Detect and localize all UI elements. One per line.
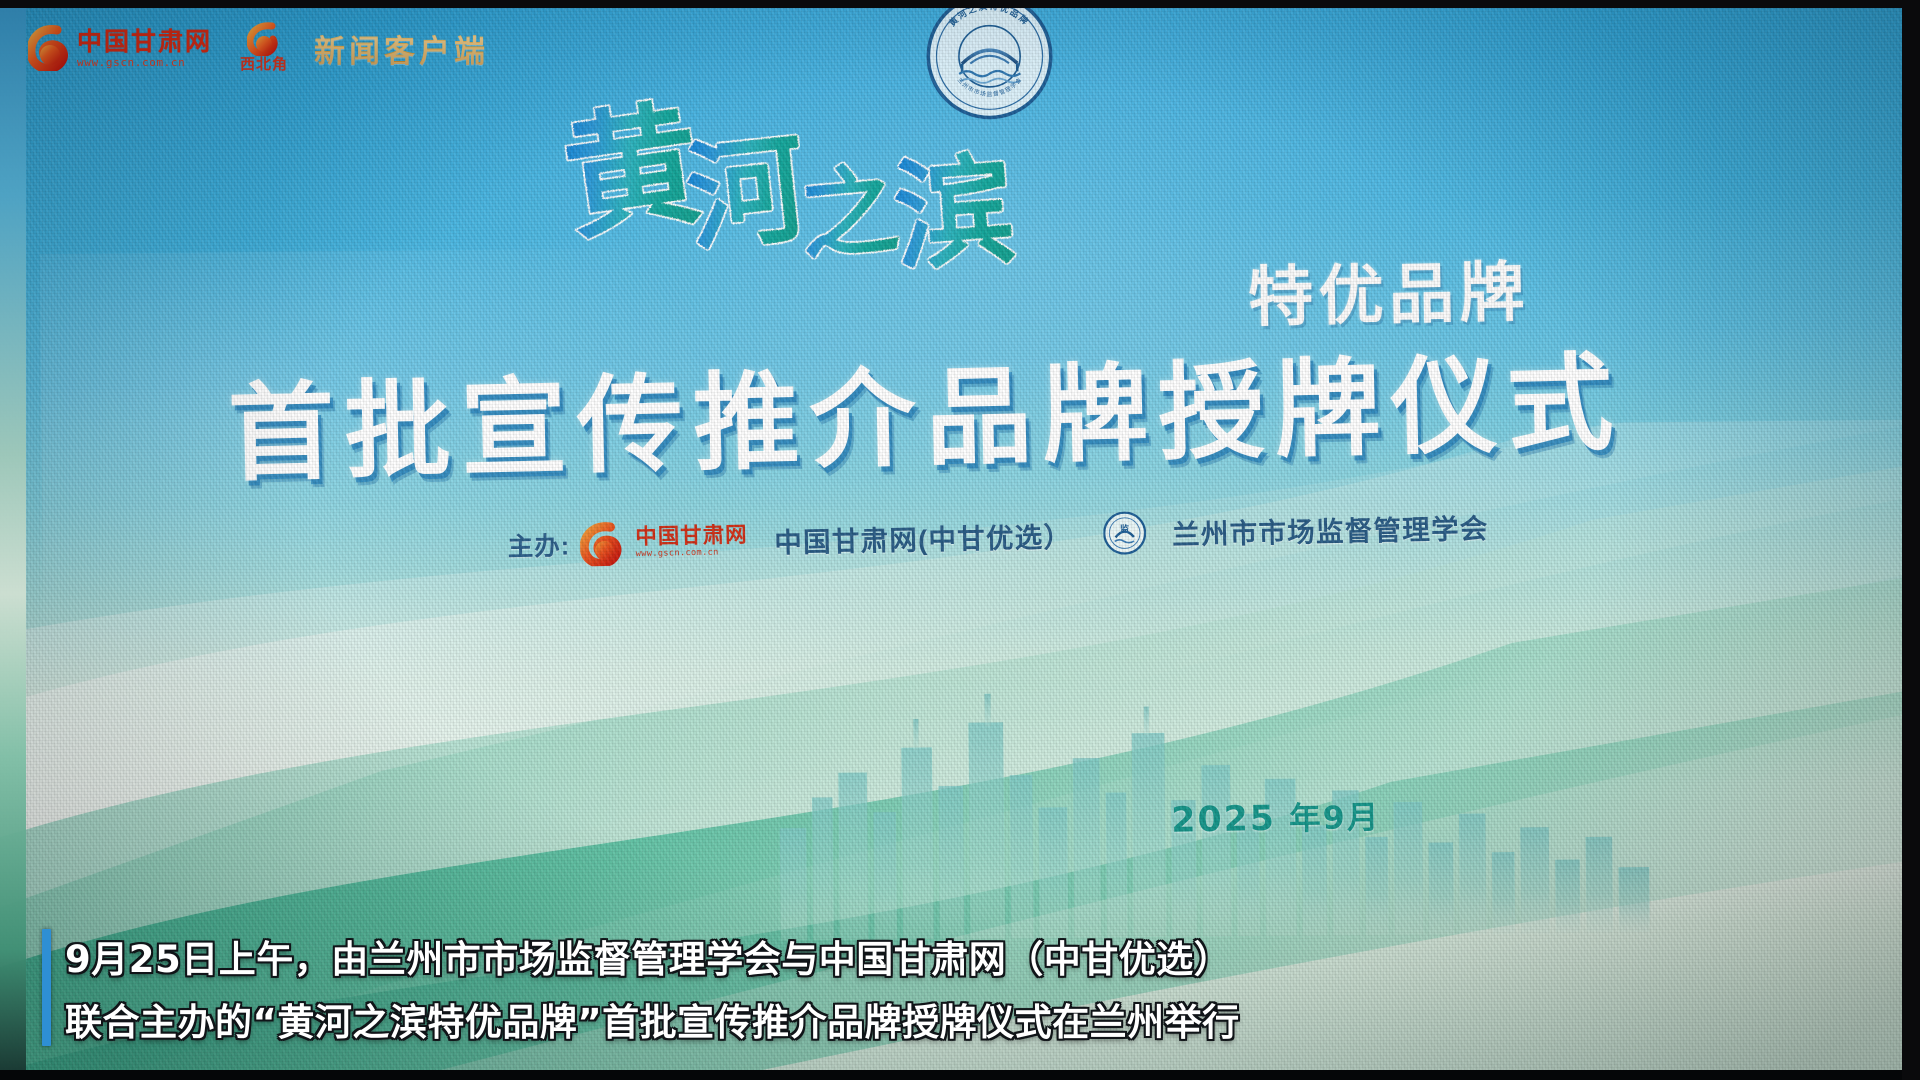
organiser-first: 中国甘肃网 www.gscn.com.cn	[580, 518, 748, 566]
gscn-watermark-icon	[28, 25, 70, 71]
caption-line-2: 联合主办的“黄河之滨特优品牌”首批宣传推介品牌授牌仪式在兰州举行	[65, 992, 1240, 1046]
callig-char-3: 之	[796, 157, 903, 273]
gscn-watermark-url: www.gscn.com.cn	[77, 57, 212, 68]
gscn-logo-icon	[580, 521, 628, 567]
letterbox-top	[0, 0, 1920, 8]
gscn-logo-url: www.gscn.com.cn	[636, 548, 748, 559]
svg-text:监: 监	[1119, 523, 1128, 535]
organiser-second-title: 兰州市市场监督管理学会	[1172, 506, 1489, 552]
board-tilt-layer: 黄河之滨特优品牌 兰州市市场监督管理学会	[0, 0, 1920, 1080]
frame-left-edge	[0, 0, 26, 1080]
lanzhou-association-seal-icon: 监	[1102, 511, 1146, 555]
caption-accent-bar	[42, 929, 51, 1046]
event-date-year: 2025	[1171, 798, 1276, 841]
gscn-logo-name: 中国甘肃网	[635, 525, 748, 549]
letterbox-right	[1902, 0, 1920, 1080]
event-date-month: 年9月	[1276, 799, 1381, 838]
organiser-first-title: 中国甘肃网(中甘优选）	[774, 514, 1073, 560]
organiser-label: 主办:	[507, 526, 570, 564]
gscn-watermark: 中国甘肃网 www.gscn.com.cn	[28, 25, 212, 71]
channel-watermark: 中国甘肃网 www.gscn.com.cn	[28, 22, 489, 74]
news-caption: 9月25日上午，由兰州市市场监督管理学会与中国甘肃网（中甘优选） 联合主办的“黄…	[42, 929, 1240, 1046]
organiser-second: 监	[1102, 511, 1146, 555]
organiser-row: 主办:	[507, 503, 1489, 568]
event-headline: 首批宣传推介品牌授牌仪式	[226, 315, 1678, 502]
caption-line-1: 9月25日上午，由兰州市市场监督管理学会与中国甘肃网（中甘优选）	[65, 929, 1240, 983]
northwest-corner-label: 西北角	[240, 53, 288, 74]
screenshot-root: 黄河之滨特优品牌 兰州市市场监督管理学会	[0, 0, 1920, 1080]
northwest-corner-watermark: 西北角	[240, 22, 288, 74]
event-date: 2025 年9月	[1171, 791, 1381, 841]
callig-char-2: 河	[681, 124, 813, 267]
official-seal-emblem: 黄河之滨特优品牌 兰州市市场监督管理学会	[925, 0, 1055, 121]
callig-char-4: 滨	[889, 145, 1019, 286]
gscn-watermark-name: 中国甘肃网	[77, 29, 212, 54]
northwest-corner-icon	[247, 22, 281, 56]
app-watermark-label: 新闻客户端	[314, 26, 489, 71]
letterbox-bottom	[0, 1070, 1920, 1080]
